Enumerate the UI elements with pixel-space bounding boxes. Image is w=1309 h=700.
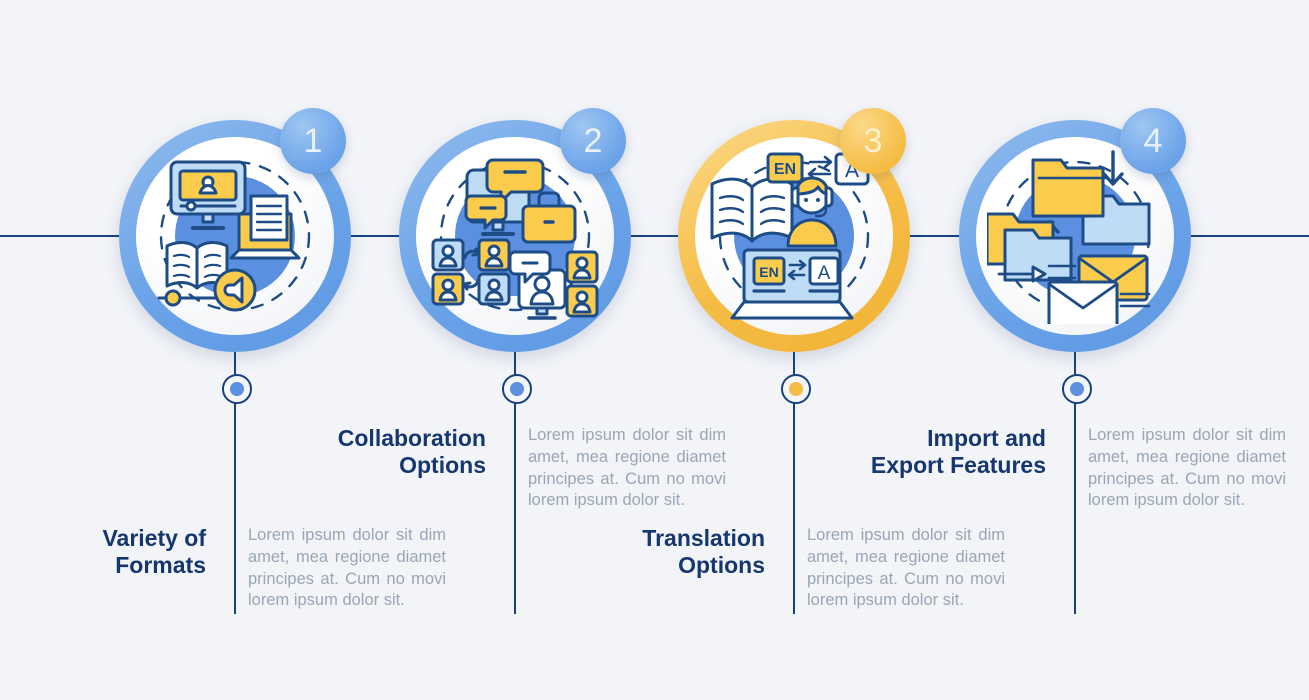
step-desc-block-1: Lorem ipsum dolor sit dim amet, mea regi… (248, 525, 448, 612)
connector-dot-4[interactable] (1062, 374, 1092, 404)
connector-dot-2[interactable] (502, 374, 532, 404)
badge-number: 3 (864, 124, 883, 158)
step-title-block-2: Collaboration Options (280, 425, 514, 479)
connector-dot-3[interactable] (781, 374, 811, 404)
badge-number: 2 (584, 124, 603, 158)
step-title-3: Translation Options (559, 525, 765, 579)
translate-book-laptop-icon: EN A (706, 148, 882, 324)
step-title-block-1: Variety of Formats (0, 525, 234, 579)
svg-text:EN: EN (759, 264, 778, 280)
badge-number: 1 (304, 124, 323, 158)
step-title-4: Import and Export Features (840, 425, 1046, 479)
step-description-4: Lorem ipsum dolor sit dim amet, mea regi… (1088, 425, 1286, 512)
step-badge-3[interactable]: 3 (840, 108, 906, 174)
step-badge-4[interactable]: 4 (1120, 108, 1186, 174)
step-desc-block-4: Lorem ipsum dolor sit dim amet, mea regi… (1088, 425, 1288, 512)
step-description-3: Lorem ipsum dolor sit dim amet, mea regi… (807, 525, 1005, 612)
svg-text:A: A (818, 263, 831, 284)
dot-core (1070, 382, 1084, 396)
svg-text:EN: EN (774, 161, 796, 178)
team-network-chat-icon (427, 148, 603, 324)
step-title-block-4: Import and Export Features (840, 425, 1074, 479)
infographic-canvas: 1 Variety of Formats Lorem ipsum dolor s… (0, 0, 1309, 700)
step-title-1: Variety of Formats (6, 525, 206, 579)
dot-core (510, 382, 524, 396)
dot-core (789, 382, 803, 396)
step-description-2: Lorem ipsum dolor sit dim amet, mea regi… (528, 425, 726, 512)
step-desc-block-2: Lorem ipsum dolor sit dim amet, mea regi… (528, 425, 728, 512)
step-title-2: Collaboration Options (280, 425, 486, 479)
dot-core (230, 382, 244, 396)
screen-book-laptop-icon (147, 148, 323, 324)
step-badge-1[interactable]: 1 (280, 108, 346, 174)
badge-number: 4 (1144, 124, 1163, 158)
folders-mail-transfer-icon (987, 148, 1163, 324)
step-badge-2[interactable]: 2 (560, 108, 626, 174)
step-title-block-3: Translation Options (559, 525, 793, 579)
connector-dot-1[interactable] (222, 374, 252, 404)
step-description-1: Lorem ipsum dolor sit dim amet, mea regi… (248, 525, 446, 612)
step-desc-block-3: Lorem ipsum dolor sit dim amet, mea regi… (807, 525, 1007, 612)
